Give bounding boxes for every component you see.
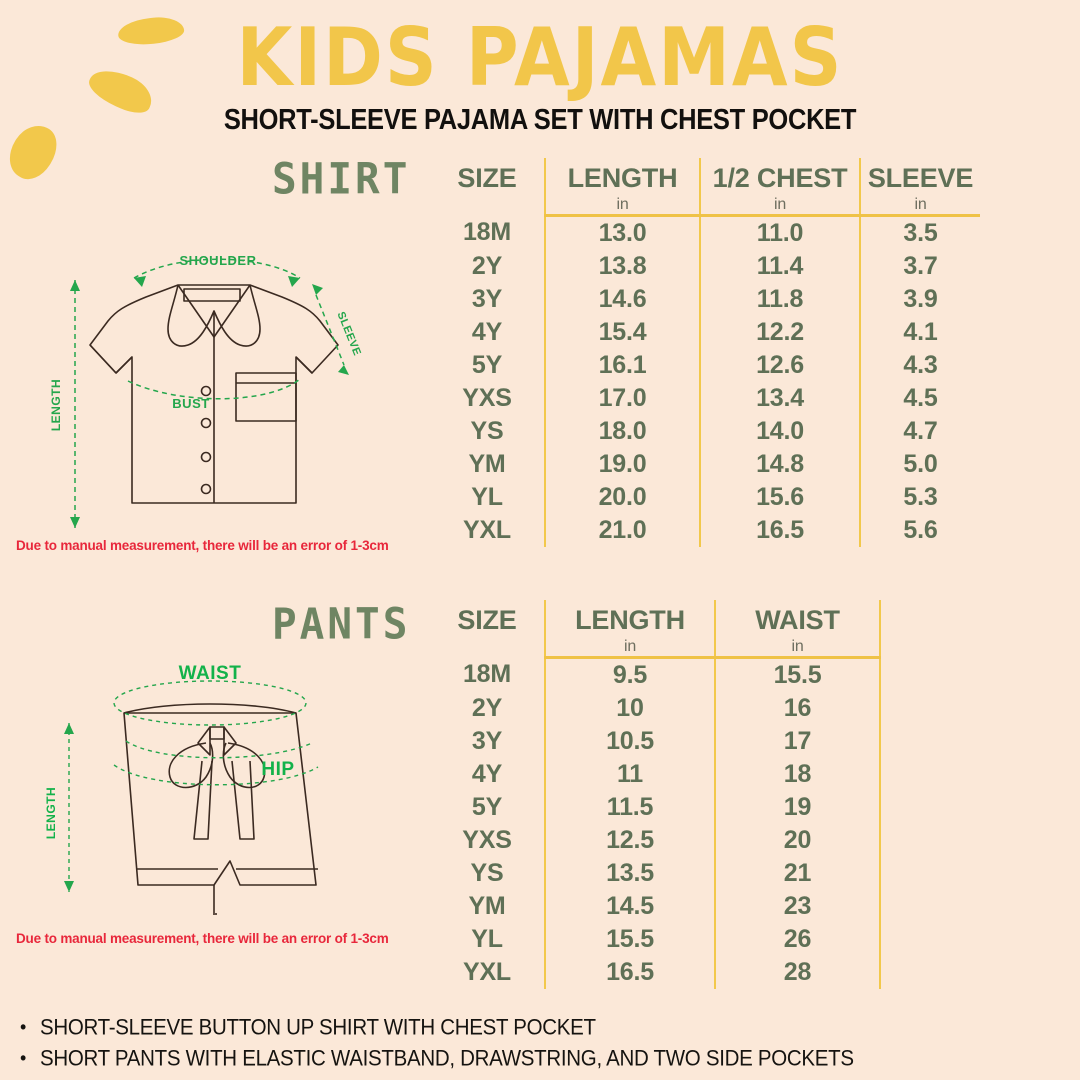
table-row: YL15.526 [430,923,880,956]
cell-value: 19.0 [545,448,700,481]
cell-value: 19 [715,791,880,824]
pants-label-length: LENGTH [44,787,58,839]
cell-value: 18.0 [545,415,700,448]
cell-size: YXS [430,382,545,415]
cell-value: 14.8 [700,448,860,481]
cell-value: 28 [715,956,880,989]
cell-value: 12.6 [700,349,860,382]
cell-size: 3Y [430,725,545,758]
pants-table-body: 18M9.515.52Y10163Y10.5174Y11185Y11.519YX… [430,658,880,990]
column-header-sleeve: SLEEVE in [860,158,980,216]
cell-value: 15.5 [545,923,715,956]
pants-table-header: SIZE LENGTH in WAIST in [430,600,880,658]
page-title: KIDS PAJAMAS [0,0,1080,100]
shirt-diagram: SHOULDER SLEEVE BUST LENGTH [28,245,428,545]
cell-size: 3Y [430,283,545,316]
column-unit: in [701,197,859,214]
column-header-size: SIZE [430,600,545,658]
table-row: 4Y1118 [430,758,880,791]
table-row: 18M9.515.5 [430,658,880,693]
cell-size: YXL [430,514,545,547]
cell-size: 18M [430,658,545,693]
column-header-label: SIZE [457,605,516,635]
cell-size: 4Y [430,316,545,349]
cell-value: 4.1 [860,316,980,349]
cell-value: 20.0 [545,481,700,514]
cell-value: 20 [715,824,880,857]
cell-value: 18 [715,758,880,791]
footer-bullet-list: SHORT-SLEEVE BUTTON UP SHIRT WITH CHEST … [14,1012,1054,1074]
cell-size: YL [430,481,545,514]
cell-value: 16.5 [545,956,715,989]
column-header-label: LENGTH [575,605,685,635]
cell-value: 15.5 [715,658,880,693]
cell-value: 14.5 [545,890,715,923]
cell-value: 11.4 [700,250,860,283]
cell-value: 13.0 [545,216,700,251]
cell-value: 12.2 [700,316,860,349]
table-row: 5Y11.519 [430,791,880,824]
table-row: YL20.015.65.3 [430,481,980,514]
cell-size: 18M [430,216,545,251]
cell-value: 15.4 [545,316,700,349]
pants-label-hip: HIP [261,759,294,780]
cell-value: 4.5 [860,382,980,415]
shirt-disclaimer: Due to manual measurement, there will be… [16,538,389,553]
cell-value: 11 [545,758,715,791]
cell-value: 16.5 [700,514,860,547]
column-header-label: 1/2 CHEST [713,163,848,193]
cell-value: 4.7 [860,415,980,448]
cell-size: YL [430,923,545,956]
table-row: YM14.523 [430,890,880,923]
column-unit: in [716,639,879,656]
column-unit: in [861,197,980,214]
pants-disclaimer: Due to manual measurement, there will be… [16,931,389,946]
shirt-table-body: 18M13.011.03.52Y13.811.43.73Y14.611.83.9… [430,216,980,548]
cell-size: YS [430,857,545,890]
column-header-label: WAIST [755,605,840,635]
cell-size: YXL [430,956,545,989]
table-row: YS13.521 [430,857,880,890]
cell-size: YS [430,415,545,448]
cell-value: 12.5 [545,824,715,857]
column-header-label: LENGTH [568,163,678,193]
column-header-size: SIZE [430,158,545,216]
footer-notes: SHORT-SLEEVE BUTTON UP SHIRT WITH CHEST … [14,1012,1054,1074]
column-header-half-chest: 1/2 CHEST in [700,158,860,216]
cell-size: 2Y [430,692,545,725]
cell-value: 13.8 [545,250,700,283]
table-row: 18M13.011.03.5 [430,216,980,251]
table-row: YXL16.528 [430,956,880,989]
cell-value: 17.0 [545,382,700,415]
cell-value: 14.6 [545,283,700,316]
cell-value: 16.1 [545,349,700,382]
cell-value: 11.5 [545,791,715,824]
cell-size: YM [430,890,545,923]
column-unit: in [546,197,699,214]
cell-size: YM [430,448,545,481]
page-header: KIDS PAJAMAS SHORT-SLEEVE PAJAMA SET WIT… [0,0,1080,135]
cell-value: 26 [715,923,880,956]
cell-value: 11.0 [700,216,860,251]
cell-value: 9.5 [545,658,715,693]
cell-value: 23 [715,890,880,923]
column-unit: in [546,639,714,656]
cell-size: 5Y [430,349,545,382]
table-row: YM19.014.85.0 [430,448,980,481]
page-subtitle: SHORT-SLEEVE PAJAMA SET WITH CHEST POCKE… [0,104,1080,136]
section-label-pants: PANTS [272,599,410,649]
cell-value: 15.6 [700,481,860,514]
table-row: YXS17.013.44.5 [430,382,980,415]
column-header-label: SLEEVE [868,163,973,193]
shirt-label-sleeve: SLEEVE [335,310,364,358]
table-row: 4Y15.412.24.1 [430,316,980,349]
shirt-size-table: SIZE LENGTH in 1/2 CHEST in SLEEVE in 18… [430,158,980,547]
shirt-table-header: SIZE LENGTH in 1/2 CHEST in SLEEVE in [430,158,980,216]
table-row: YXL21.016.55.6 [430,514,980,547]
cell-value: 3.5 [860,216,980,251]
table-row: YXS12.520 [430,824,880,857]
cell-value: 4.3 [860,349,980,382]
table-row: 3Y10.517 [430,725,880,758]
table-row: 5Y16.112.64.3 [430,349,980,382]
cell-value: 5.0 [860,448,980,481]
table-header-row: SIZE LENGTH in WAIST in [430,600,880,658]
table-header-row: SIZE LENGTH in 1/2 CHEST in SLEEVE in [430,158,980,216]
cell-value: 21 [715,857,880,890]
cell-value: 16 [715,692,880,725]
cell-value: 17 [715,725,880,758]
cell-value: 21.0 [545,514,700,547]
pants-label-waist: WAIST [179,665,242,684]
cell-value: 10 [545,692,715,725]
pants-diagram: WAIST HIP LENGTH [28,665,428,935]
column-header-length: LENGTH in [545,158,700,216]
cell-size: YXS [430,824,545,857]
column-header-waist: WAIST in [715,600,880,658]
table-row: 2Y1016 [430,692,880,725]
cell-value: 5.6 [860,514,980,547]
cell-size: 5Y [430,791,545,824]
cell-value: 3.9 [860,283,980,316]
cell-value: 5.3 [860,481,980,514]
footer-bullet: SHORT-SLEEVE BUTTON UP SHIRT WITH CHEST … [40,1010,1054,1044]
shirt-label-shoulder: SHOULDER [180,253,257,268]
column-header-label: SIZE [457,163,516,193]
table-row: 2Y13.811.43.7 [430,250,980,283]
column-header-length: LENGTH in [545,600,715,658]
cell-value: 14.0 [700,415,860,448]
cell-value: 10.5 [545,725,715,758]
cell-value: 11.8 [700,283,860,316]
shirt-label-length: LENGTH [49,379,63,431]
cell-size: 4Y [430,758,545,791]
table-row: 3Y14.611.83.9 [430,283,980,316]
table-row: YS18.014.04.7 [430,415,980,448]
cell-value: 3.7 [860,250,980,283]
cell-size: 2Y [430,250,545,283]
footer-bullet: SHORT PANTS WITH ELASTIC WAISTBAND, DRAW… [40,1041,1054,1075]
shirt-label-bust: BUST [172,396,209,411]
cell-value: 13.4 [700,382,860,415]
pants-size-table: SIZE LENGTH in WAIST in 18M9.515.52Y1016… [430,600,881,989]
section-label-shirt: SHIRT [272,154,410,204]
cell-value: 13.5 [545,857,715,890]
